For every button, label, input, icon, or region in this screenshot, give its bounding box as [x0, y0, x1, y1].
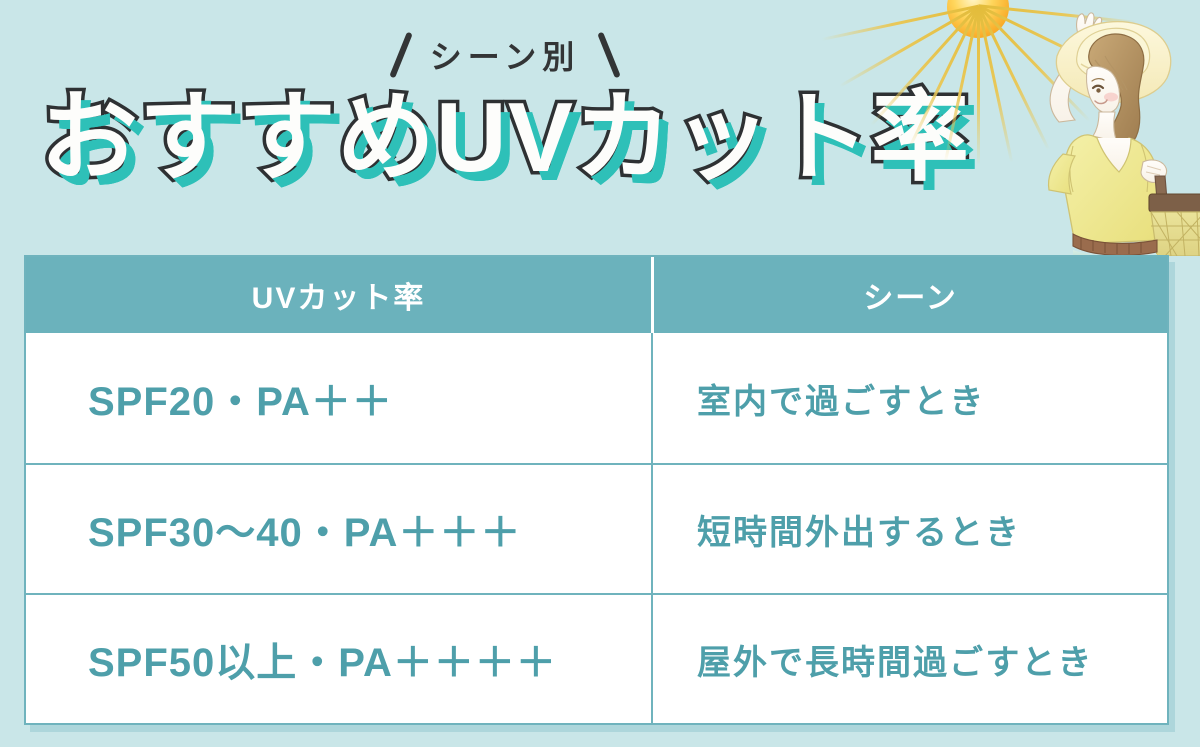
table-header-row: UVカット率 シーン — [26, 257, 1167, 333]
cell-scene: 短時間外出するとき — [651, 465, 1167, 593]
eyebrow-label: シーン別 — [430, 32, 580, 78]
table-row: SPF50以上・PA＋＋＋＋ 屋外で長時間過ごすとき — [26, 593, 1167, 723]
woman-with-straw-hat-illustration — [1015, 0, 1200, 256]
cell-scene: 室内で過ごすとき — [651, 333, 1167, 463]
uv-recommendation-table: UVカット率 シーン SPF20・PA＋＋ 室内で過ごすとき SPF30〜40・… — [24, 255, 1169, 725]
sun-ray-icon — [977, 6, 980, 166]
column-header-uv-rate: UVカット率 — [26, 257, 651, 333]
page-title: おすすめUVカット率 — [0, 88, 1010, 186]
slash-left-icon — [389, 32, 413, 79]
column-header-scene: シーン — [651, 257, 1167, 333]
cell-uv-rate: SPF50以上・PA＋＋＋＋ — [26, 595, 651, 723]
cell-uv-rate: SPF20・PA＋＋ — [26, 333, 651, 463]
cell-scene: 屋外で長時間過ごすとき — [651, 595, 1167, 723]
cell-uv-rate: SPF30〜40・PA＋＋＋ — [26, 465, 651, 593]
slash-right-icon — [597, 32, 621, 79]
table-row: SPF30〜40・PA＋＋＋ 短時間外出するとき — [26, 463, 1167, 593]
header-area: シーン別 おすすめUVカット率 — [0, 0, 1200, 248]
table-row: SPF20・PA＋＋ 室内で過ごすとき — [26, 333, 1167, 463]
